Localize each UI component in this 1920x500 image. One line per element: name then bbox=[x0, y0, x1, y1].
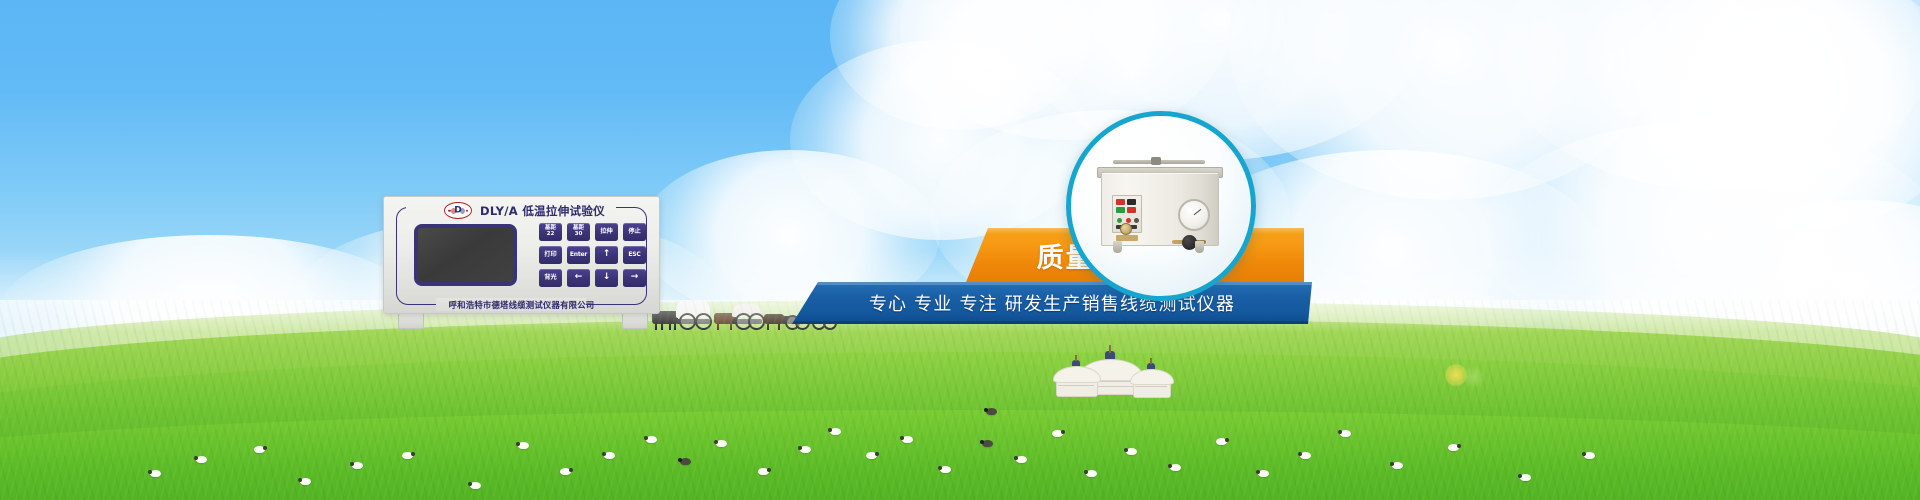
lcd-surface bbox=[418, 228, 513, 282]
pressure-gauge-icon bbox=[1178, 199, 1210, 231]
key-backlight[interactable]: 背光 bbox=[539, 269, 562, 287]
logo-letter: D bbox=[454, 206, 461, 215]
bush-icon bbox=[1462, 366, 1486, 388]
instrument-model-title: DLY/A 低温拉伸试验仪 bbox=[480, 203, 605, 219]
key-arrow-right[interactable]: → bbox=[623, 269, 646, 287]
key-esc[interactable]: ESC bbox=[623, 246, 646, 264]
instrument-company-name: 呼和浩特市德塔线缆测试仪器有限公司 bbox=[449, 299, 595, 311]
company-logo-icon: D bbox=[444, 202, 472, 219]
chamber-body bbox=[1101, 172, 1219, 246]
instrument-lcd-screen bbox=[414, 224, 517, 286]
yurt-icon bbox=[1130, 366, 1172, 398]
key-arrow-down[interactable]: ↓ bbox=[595, 269, 618, 287]
instrument-front-panel: D DLY/A 低温拉伸试验仪 基距22 基距30 拉伸 停止 打印 Enter… bbox=[383, 196, 660, 314]
product-photo-circle bbox=[1066, 111, 1256, 301]
instrument-foot-left bbox=[398, 313, 424, 329]
instrument-keypad[interactable]: 基距22 基距30 拉伸 停止 打印 Enter ↑ ESC 背光 ← ↓ → bbox=[539, 223, 645, 287]
yurt-icon bbox=[1053, 363, 1099, 397]
key-arrow-up[interactable]: ↑ bbox=[595, 246, 618, 264]
key-stretch[interactable]: 拉伸 bbox=[595, 223, 618, 241]
hero-banner: D DLY/A 低温拉伸试验仪 基距22 基距30 拉伸 停止 打印 Enter… bbox=[0, 0, 1920, 500]
key-jiju-30[interactable]: 基距30 bbox=[567, 223, 590, 241]
pressure-test-chamber-icon bbox=[1097, 158, 1221, 252]
key-arrow-left[interactable]: ← bbox=[567, 269, 590, 287]
key-jiju-22[interactable]: 基距22 bbox=[539, 223, 562, 241]
hill-front bbox=[0, 410, 1920, 500]
key-print[interactable]: 打印 bbox=[539, 246, 562, 264]
instrument-foot-right bbox=[622, 313, 648, 329]
chamber-handle-knob bbox=[1151, 157, 1161, 165]
key-enter[interactable]: Enter bbox=[567, 246, 590, 264]
chamber-caster bbox=[1195, 241, 1204, 253]
key-stop[interactable]: 停止 bbox=[623, 223, 646, 241]
chamber-caster bbox=[1113, 241, 1122, 253]
chamber-dial bbox=[1120, 223, 1132, 235]
